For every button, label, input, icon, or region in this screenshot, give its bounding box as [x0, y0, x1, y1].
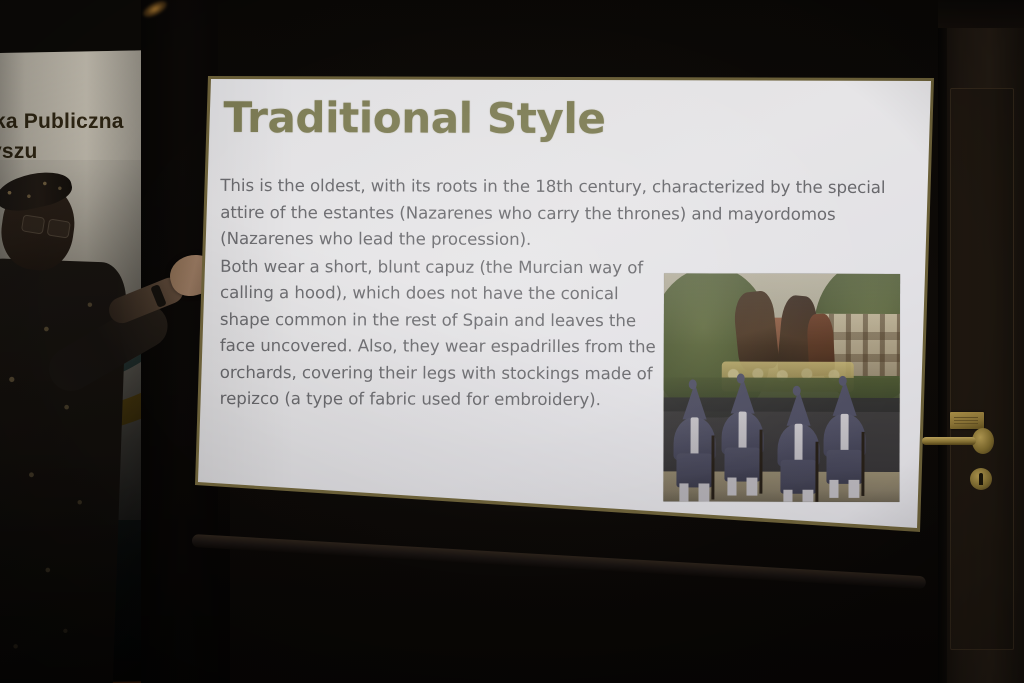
room-door[interactable] — [938, 0, 1024, 683]
nazarene-tunic — [780, 460, 816, 494]
slide-paragraph-1: This is the oldest, with its roots in th… — [220, 173, 902, 255]
photo-nazarene — [821, 380, 867, 496]
nazarene-tunic — [724, 448, 760, 482]
screen-surface: Traditional Style This is the oldest, wi… — [190, 62, 938, 536]
nazarene-hood-tip — [689, 379, 697, 389]
photo-nazarene — [719, 377, 765, 493]
nazarene-stockings — [679, 483, 709, 501]
nazarene-stockings — [727, 478, 757, 496]
door-top-trim — [938, 0, 1024, 28]
door-jamb — [938, 0, 947, 683]
projection-screen: Traditional Style This is the oldest, wi… — [190, 62, 940, 550]
nazarene-staff — [815, 442, 818, 502]
door-keyhole-icon[interactable] — [970, 468, 992, 490]
nazarene-tunic — [826, 450, 862, 484]
door-escutcheon-plate — [950, 412, 984, 429]
photo-nazarene — [775, 390, 821, 502]
door-panel — [950, 88, 1014, 650]
nazarene-staff — [861, 432, 864, 496]
door-handle[interactable] — [922, 437, 976, 445]
nazarene-stockings — [829, 480, 859, 498]
procession-photo — [663, 273, 900, 502]
slide-paragraph-2: Both wear a short, blunt capuz (the Murc… — [220, 253, 668, 413]
slide: Traditional Style This is the oldest, wi… — [190, 62, 938, 536]
nazarene-hood-tip — [793, 386, 801, 396]
nazarene-tunic — [676, 453, 712, 487]
nazarene-stockings — [783, 490, 813, 502]
room-scene: ka Publiczna yszu Traditional Style This… — [0, 0, 1024, 683]
nazarene-hood-tip — [839, 376, 847, 386]
nazarene-staff — [711, 435, 714, 499]
nazarene-staff — [759, 430, 762, 494]
slide-title: Traditional Style — [223, 93, 605, 143]
photo-nazarene — [671, 383, 717, 499]
nazarene-hood-tip — [737, 374, 745, 384]
